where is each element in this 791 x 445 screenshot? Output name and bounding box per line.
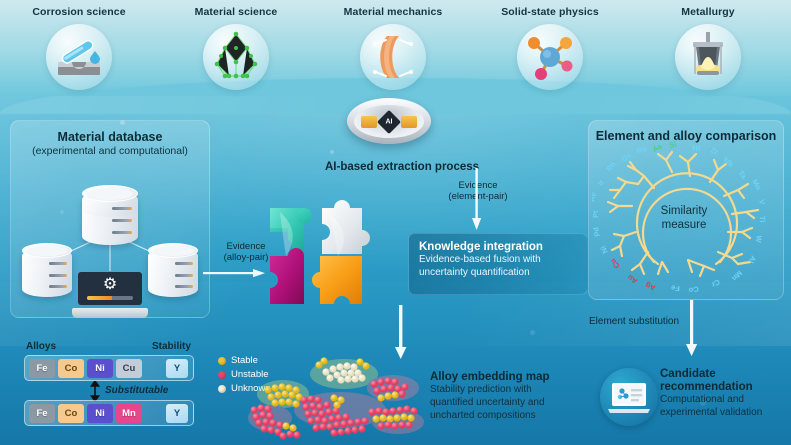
discipline-label: Corrosion science: [4, 6, 154, 18]
puzzle-piece-silver: [322, 200, 370, 254]
dendro-leaf-label: Ag: [644, 281, 657, 293]
card-body-line: Evidence-based fusion with: [419, 254, 577, 267]
database-cylinder-icon: [22, 243, 72, 299]
alloy-embedding-card: Alloy embedding map Stability prediction…: [420, 364, 595, 438]
panel-title: Material database: [11, 130, 209, 144]
database-cylinder-icon: [148, 243, 198, 299]
dendro-leaf-label: As: [651, 142, 664, 154]
molecule-lattice-icon: [203, 24, 269, 90]
dendro-leaf-label: Zr: [709, 145, 719, 156]
card-title: Candidate: [660, 368, 788, 380]
stability-value: Y: [166, 404, 188, 423]
similarity-measure-label-line1: Similarity: [661, 205, 708, 217]
dendro-leaf-label: W: [754, 235, 764, 244]
element-chip: Fe: [29, 359, 55, 378]
dendro-leaf-label: Si: [668, 140, 677, 150]
element-chip: Ni: [87, 359, 113, 378]
dendro-leaf-label: Mn: [730, 269, 744, 283]
dendro-leaf-label: Mo: [750, 178, 763, 192]
dendro-leaf-label: Cu: [608, 257, 622, 271]
discipline-material-mechanics: Material mechanics: [318, 6, 468, 90]
extraction-caption: AI-based extraction process: [325, 161, 479, 173]
card-body-line: Computational and: [660, 394, 788, 407]
element-chip: Cu: [116, 359, 142, 378]
dendro-leaf-label: Co: [687, 284, 699, 295]
alloy-row[interactable]: Fe Co Ni Mn Y: [24, 400, 194, 426]
substitutable-arrow-icon: [88, 381, 102, 401]
furnace-pour-icon: [675, 24, 741, 90]
dendro-leaf-label: Pd: [592, 226, 602, 238]
dendro-leaf-label: Ti: [758, 216, 767, 223]
legend-swatch-unstable: [218, 371, 226, 379]
evidence-element-pair-arrow-icon: [470, 168, 484, 230]
alloys-column-header: Alloys: [26, 341, 56, 352]
figure-canvas: Corrosion science Material science: [0, 0, 791, 445]
discipline-corrosion-science: Corrosion science: [4, 6, 154, 90]
dendro-leaf-label: Ni: [598, 244, 609, 255]
alloy-row[interactable]: Fe Co Ni Cu Y: [24, 355, 194, 381]
dendro-leaf-label: Rh: [604, 159, 618, 173]
ai-chip-label: AI: [381, 113, 398, 130]
dendro-leaf-label: Ta: [736, 169, 749, 182]
stability-value: Y: [166, 359, 188, 378]
element-substitution-label: Element substitution: [589, 316, 679, 327]
card-body-line: experimental validation: [660, 407, 788, 420]
discipline-label: Material science: [161, 6, 311, 18]
dendro-leaf-label: V: [757, 199, 767, 206]
laptop-report-icon: [600, 368, 658, 426]
element-substitution-arrow-icon: [684, 300, 700, 356]
dendro-leaf-label: Au: [625, 273, 639, 286]
laptop-gear-icon: ⚙: [78, 272, 142, 318]
atom-model-icon: [517, 24, 583, 90]
ai-chip-disc-icon: AI: [347, 98, 431, 144]
card-body-line: uncertainty quantification: [419, 267, 577, 280]
puzzle-graphic: [262, 198, 382, 316]
knowledge-to-embedding-arrow-icon: [393, 305, 409, 359]
stability-column-header: Stability: [152, 341, 191, 352]
dendro-leaf-label: Cr: [710, 277, 722, 289]
discipline-solid-state-physics: Solid-state physics: [475, 6, 625, 90]
embedding-scatter-clusters: [248, 352, 428, 444]
bokeh-dot: [530, 330, 535, 335]
element-chip: Mn: [116, 404, 142, 423]
puzzle-piece-magenta: [270, 248, 304, 304]
element-chip: Ni: [87, 404, 113, 423]
gear-icon: ⚙: [103, 277, 117, 293]
dendro-leaf-label: Pt: [592, 210, 600, 218]
legend-swatch-stable: [218, 357, 226, 365]
card-body-line: uncharted compositions: [430, 410, 585, 423]
bokeh-dot: [330, 150, 334, 154]
card-title: Alloy embedding map: [430, 371, 585, 383]
panel-subtitle: (experimental and computational): [11, 145, 209, 157]
similarity-measure-label-line2: measure: [662, 219, 707, 231]
discipline-material-science: Material science: [161, 6, 311, 90]
dendro-leaf-label: Fe: [671, 283, 680, 293]
dendro-leaf-label: Os: [620, 150, 633, 163]
progress-bar: [87, 296, 133, 300]
evidence-alloy-pair-arrow-icon: [203, 268, 265, 280]
element-chip: Fe: [29, 404, 55, 423]
discipline-label: Metallurgy: [633, 6, 783, 18]
ai-chip: AI: [377, 110, 401, 134]
legend-swatch-unknown: [218, 385, 226, 393]
dendro-leaf-label: Hf: [692, 143, 702, 153]
discipline-metallurgy: Metallurgy: [633, 6, 783, 90]
circular-dendrogram: As Si Hf Zr Nb Ta Mo V Ti W Al Mn Cr Co …: [592, 140, 782, 300]
card-title: Knowledge integration: [419, 241, 577, 253]
card-body-line: quantified uncertainty and: [430, 397, 585, 410]
card-body-line: Stability prediction with: [430, 384, 585, 397]
discipline-label: Material mechanics: [318, 6, 468, 18]
puzzle-piece-orange: [312, 256, 362, 304]
dendro-leaf-label: Re: [592, 191, 598, 202]
dendro-leaf-label: Ir: [596, 178, 606, 187]
knowledge-integration-card: Knowledge integration Evidence-based fus…: [408, 233, 588, 295]
test-tube-icon: [46, 24, 112, 90]
element-chip: Co: [58, 404, 84, 423]
discipline-label: Solid-state physics: [475, 6, 625, 18]
element-chip: Co: [58, 359, 84, 378]
substitutable-label: Substitutable: [105, 385, 168, 396]
database-cylinder-icon: [82, 185, 138, 247]
card-title: recommendation: [660, 381, 788, 393]
dendro-leaf-label: Ru: [635, 143, 648, 155]
bending-beam-icon: [360, 24, 426, 90]
candidate-recommendation-card: Candidate recommendation Computational a…: [660, 368, 788, 430]
